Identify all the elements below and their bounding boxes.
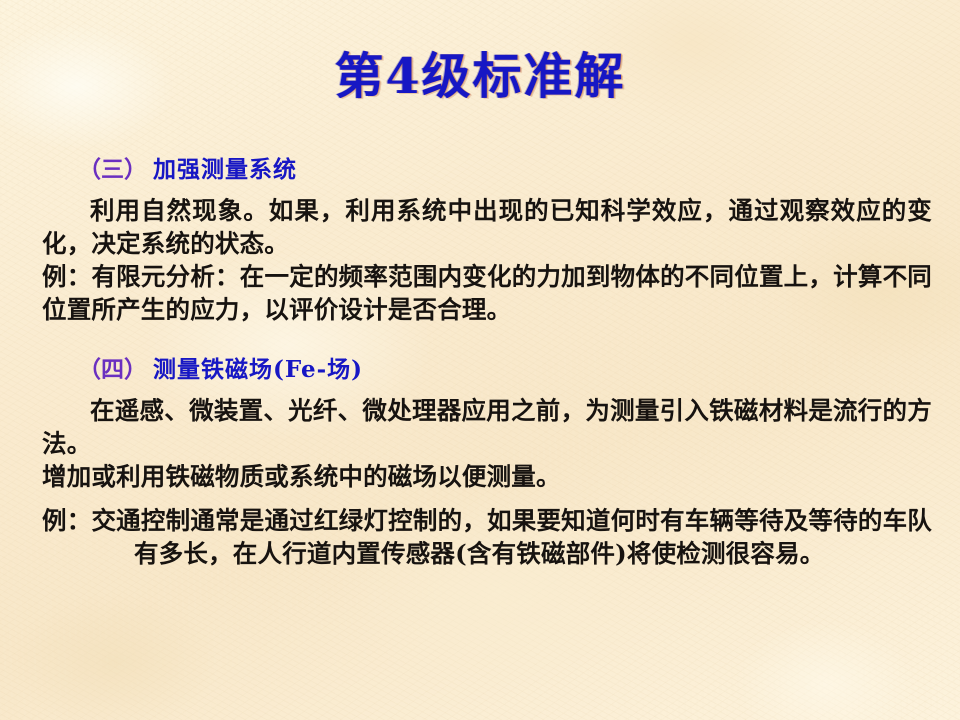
paragraph-text: 例：交通控制通常是通过红绿灯控制的，如果要知道何时有车辆等待及等待的车队有多长，… [42, 504, 932, 570]
paragraph-example-traffic: 例：交通控制通常是通过红绿灯控制的，如果要知道何时有车辆等待及等待的车队有多长，… [0, 504, 960, 570]
paragraph-natural-phenomena: 利用自然现象。如果，利用系统中出现的已知科学效应，通过观察效应的变化，决定系统的… [0, 194, 960, 260]
paragraph-text: 增加或利用铁磁物质或系统中的磁场以便测量。 [0, 460, 960, 493]
paragraph-wrapper: 例：交通控制通常是通过红绿灯控制的，如果要知道何时有车辆等待及等待的车队有多长，… [0, 504, 960, 570]
section-heading-four: （四）测量铁磁场(Fe-场) [0, 354, 960, 385]
page-title: 第4级标准解 [334, 50, 625, 104]
section-title-three: 加强测量系统 [153, 156, 297, 183]
section-title-four: 测量铁磁场(Fe-场) [153, 356, 363, 383]
section-heading-row: （四）测量铁磁场(Fe-场) [0, 354, 960, 385]
paragraph-text: 例：有限元分析：在一定的频率范围内变化的力加到物体的不同位置上，计算不同位置所产… [0, 260, 960, 326]
section-heading-row: （三）加强测量系统 [0, 154, 960, 185]
section-heading-three: （三）加强测量系统 [0, 154, 960, 185]
section-number-four: （四） [78, 356, 147, 383]
paragraph-ferromagnetic-intro: 在遥感、微装置、光纤、微处理器应用之前，为测量引入铁磁材料是流行的方法。 [0, 394, 960, 460]
slide-canvas: 第4级标准解 （三）加强测量系统 利用自然现象。如果，利用系统中出现的已知科学效… [0, 0, 960, 720]
paragraph-text: 利用自然现象。如果，利用系统中出现的已知科学效应，通过观察效应的变化，决定系统的… [0, 194, 960, 260]
section-number-three: （三） [78, 156, 147, 183]
paragraph-text: 在遥感、微装置、光纤、微处理器应用之前，为测量引入铁磁材料是流行的方法。 [0, 394, 960, 460]
paragraph-augment-field: 增加或利用铁磁物质或系统中的磁场以便测量。 [0, 460, 960, 493]
title-block: 第4级标准解 [0, 50, 960, 104]
paragraph-example-fea: 例：有限元分析：在一定的频率范围内变化的力加到物体的不同位置上，计算不同位置所产… [0, 260, 960, 326]
